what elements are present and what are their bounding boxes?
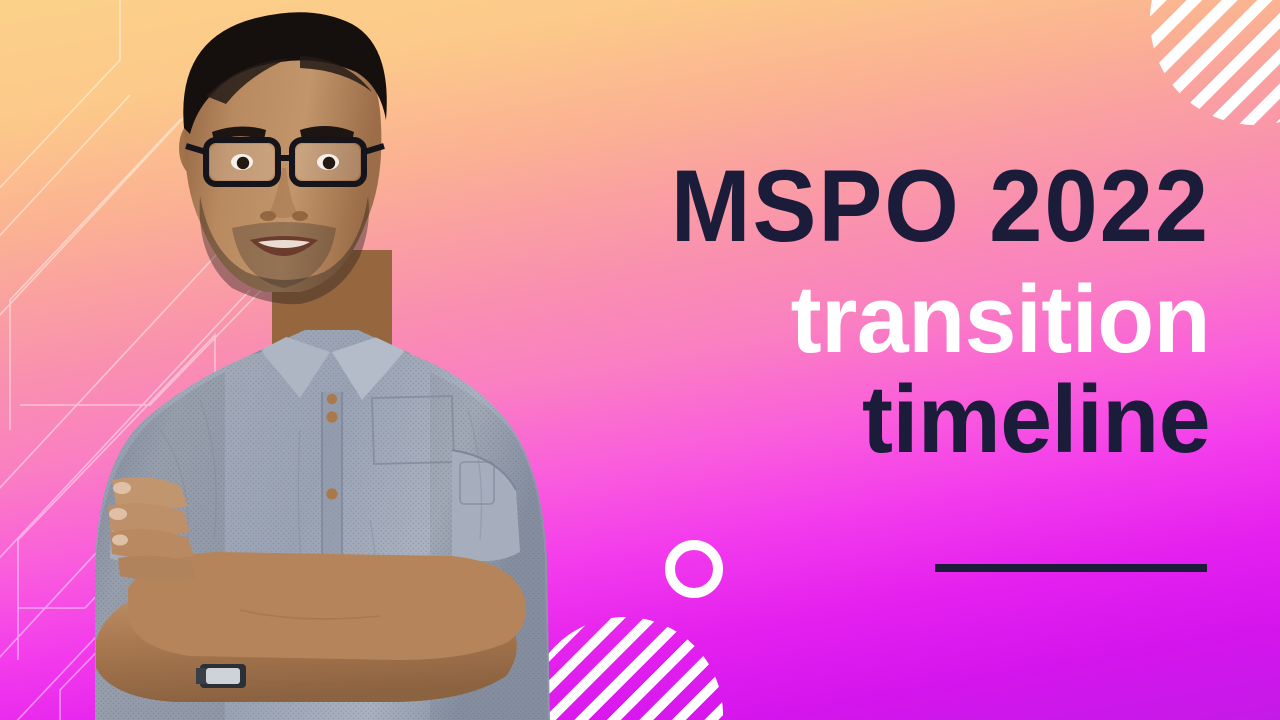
striped-circle-bottom-icon <box>527 617 723 720</box>
thumbnail-canvas: MSPO 2022 transition timeline <box>0 0 1280 720</box>
headline-block: MSPO 2022 transition timeline <box>460 160 1210 464</box>
headline-subtitle-timeline: timeline <box>483 376 1211 464</box>
diagonal-line-art <box>0 0 420 720</box>
headline-subtitle-transition: transition <box>483 276 1211 364</box>
white-ring-icon <box>665 540 723 598</box>
headline-underline-bar <box>935 564 1207 572</box>
headline-title: MSPO 2022 <box>505 160 1210 254</box>
striped-circle-top-right-icon <box>1150 0 1280 125</box>
